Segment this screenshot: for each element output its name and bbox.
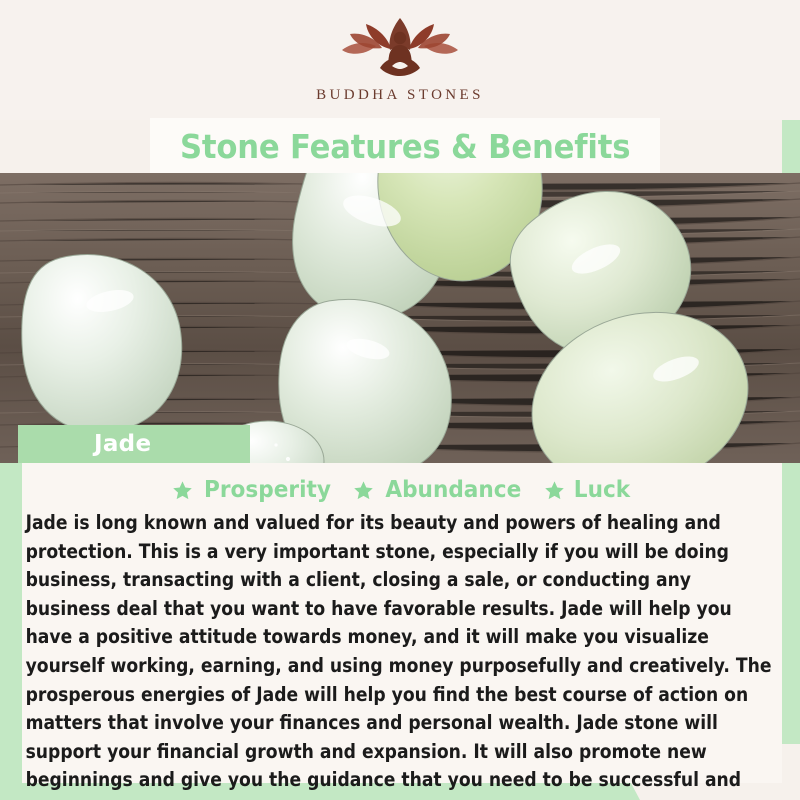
page-title-banner: Stone Features & Benefits (150, 118, 660, 174)
page-title: Stone Features & Benefits (180, 127, 630, 166)
stone-description: Jade is long known and valued for its be… (22, 509, 787, 800)
benefit-label: Luck (574, 477, 630, 503)
benefit-label: Abundance (386, 477, 522, 503)
brand-header: BUDDHA STONES (0, 0, 800, 120)
benefits-list: Prosperity Abundance Luck (22, 463, 782, 503)
benefit-label: Prosperity (204, 477, 331, 503)
benefit-item: Luck (544, 477, 632, 503)
stone-photo (0, 173, 800, 463)
content-panel: Prosperity Abundance Luck Jade is long k… (22, 463, 782, 783)
stone-name-banner: Jade (18, 425, 250, 463)
brand-logo: BUDDHA STONES (316, 16, 484, 104)
brand-name: BUDDHA STONES (316, 87, 484, 104)
stone-name: Jade (94, 431, 151, 457)
benefit-item: Prosperity (172, 477, 335, 503)
stone-info-poster: BUDDHA STONES Stone Features & Benefits (0, 0, 800, 800)
benefit-item: Abundance (353, 477, 526, 503)
lotus-meditation-icon (336, 16, 464, 82)
star-icon (172, 480, 193, 501)
star-icon (353, 480, 374, 501)
star-icon (544, 480, 565, 501)
